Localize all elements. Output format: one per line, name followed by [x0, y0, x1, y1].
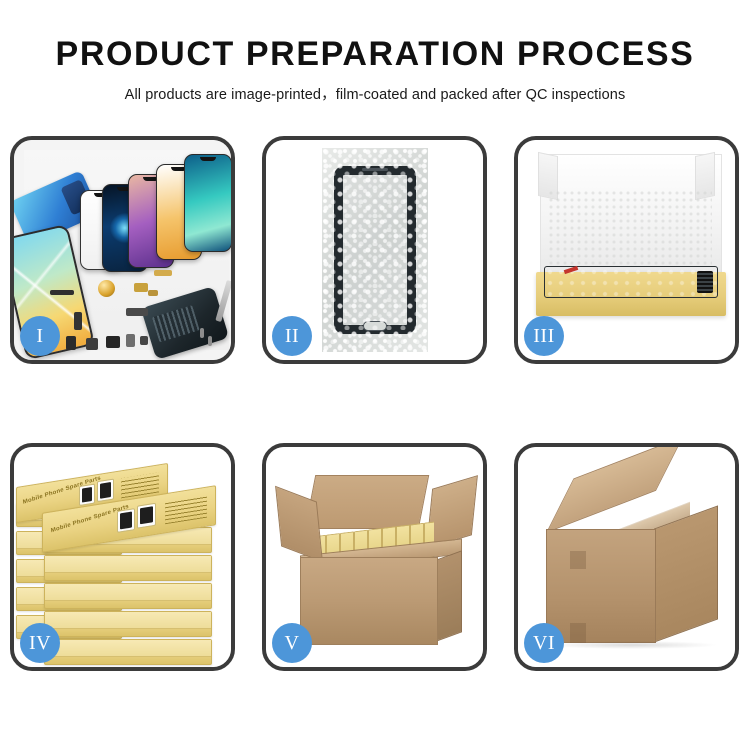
screw-icon: [208, 336, 212, 346]
stacked-box: [44, 639, 212, 665]
phone-screen-teal-icon: [184, 154, 231, 252]
step-panel-6[interactable]: VI: [514, 443, 739, 671]
sensor-part-icon: [140, 336, 148, 345]
box-spec-lines: [165, 496, 207, 525]
box-top-face: [45, 584, 211, 601]
step-panel-3[interactable]: III: [514, 136, 739, 364]
stacked-box: [44, 611, 212, 637]
box-thumbnail-icon: [79, 484, 95, 507]
step-panel-1[interactable]: I: [10, 136, 235, 364]
connector-part-icon: [134, 283, 148, 292]
screw-icon: [200, 328, 204, 338]
wrapped-screen-icon: [334, 166, 416, 334]
carton-flap-back-icon: [305, 475, 429, 529]
box-top-face: [45, 640, 211, 657]
sealed-carton-side-face-icon: [654, 505, 718, 642]
box-thumbnail-icon: [137, 503, 156, 529]
module-part-icon: [106, 336, 120, 348]
carton-hand-hole-icon: [570, 551, 586, 569]
speaker-part-icon: [50, 290, 74, 295]
stacked-box: [44, 583, 212, 609]
carton-front-face-icon: [300, 557, 438, 645]
sealed-carton-front-face-icon: [546, 529, 656, 643]
flex-cable-part-icon: [74, 312, 82, 330]
step-badge-4: IV: [20, 623, 60, 663]
page-header: PRODUCT PREPARATION PROCESS All products…: [0, 0, 750, 104]
camera-part-icon: [86, 338, 98, 350]
phone-screen-fan: [76, 152, 231, 272]
page-subtitle: All products are image-printed，film-coat…: [0, 83, 750, 104]
foam-insert-icon: [548, 190, 712, 266]
page-title: PRODUCT PREPARATION PROCESS: [0, 36, 750, 73]
box-thumbnail-icon: [97, 479, 114, 503]
step-badge-5: V: [272, 623, 312, 663]
box-top-face: [45, 556, 211, 573]
button-part-icon: [66, 336, 76, 350]
step-panel-4[interactable]: Mobile Phone Spare Parts Mobile Phone Sp…: [10, 443, 235, 671]
notch-icon: [200, 157, 216, 161]
step-badge-3: III: [524, 316, 564, 356]
box-top-face: [45, 612, 211, 629]
stacked-box: [44, 555, 212, 581]
step-badge-6: VI: [524, 623, 564, 663]
coil-part-icon: [98, 280, 115, 297]
battery-part-icon: [126, 334, 135, 347]
carton-hand-hole-icon: [570, 623, 586, 643]
gold-contact-part-icon: [154, 270, 172, 276]
step-badge-1: I: [20, 316, 60, 356]
bubble-wrap-sheet-icon: [322, 148, 428, 352]
carton-side-face-icon: [436, 550, 462, 641]
box-thumbnail-icon: [117, 508, 135, 533]
process-steps-grid: I II III: [10, 136, 740, 671]
step-badge-2: II: [272, 316, 312, 356]
step-panel-2[interactable]: II: [262, 136, 487, 364]
ribbon-part-icon: [126, 308, 148, 316]
connector-small-part-icon: [148, 290, 158, 296]
carton-shadow: [548, 641, 716, 649]
step-panel-5[interactable]: V: [262, 443, 487, 671]
